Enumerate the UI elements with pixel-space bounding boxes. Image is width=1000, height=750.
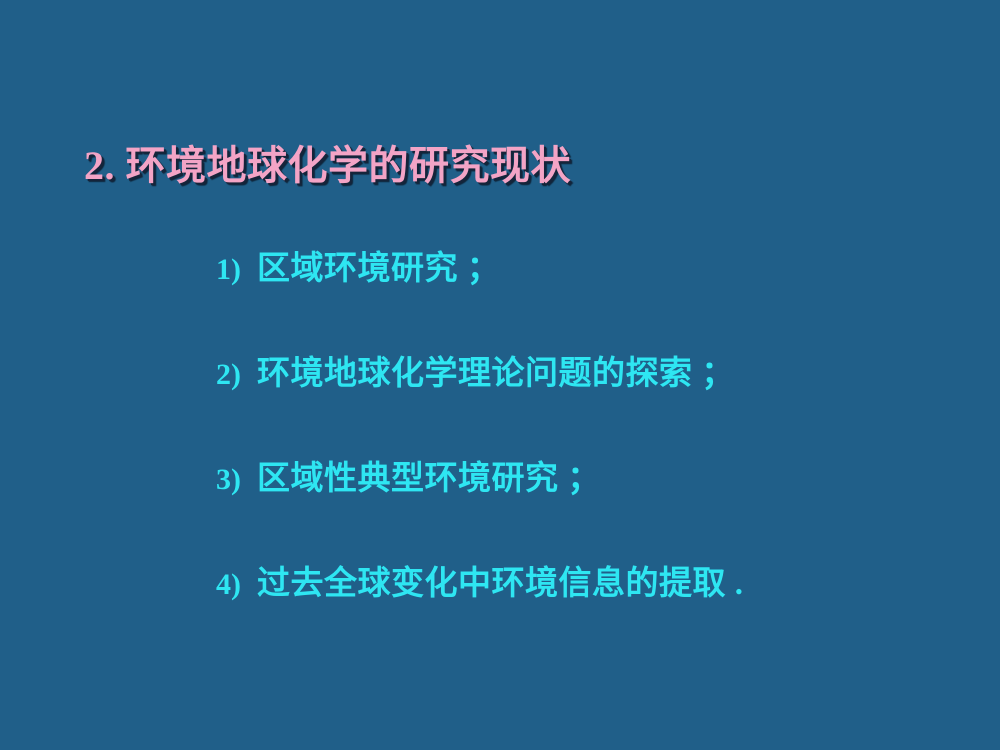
presentation-slide: 2. 环境地球化学的研究现状 1) 区域环境研究 ； 2) 环境地球化学理论问题… <box>0 0 1000 750</box>
list-item-label: 过去全球变化中环境信息的提取 . <box>257 563 744 605</box>
list-item-label: 区域性典型环境研究 ； <box>257 458 601 500</box>
bullet-list: 1) 区域环境研究 ； 2) 环境地球化学理论问题的探索 ； 3) 区域性典型环… <box>216 248 976 668</box>
list-item-marker: 1) <box>216 250 241 290</box>
list-item-marker: 3) <box>216 460 241 500</box>
list-item-marker: 4) <box>216 565 241 605</box>
page-title: 2. 环境地球化学的研究现状 <box>84 140 571 192</box>
list-item-marker: 2) <box>216 355 241 395</box>
list-item-label: 环境地球化学理论问题的探索 ； <box>257 353 735 395</box>
list-item: 2) 环境地球化学理论问题的探索 ； <box>216 353 976 458</box>
list-item: 4) 过去全球变化中环境信息的提取 . <box>216 563 976 668</box>
list-item: 1) 区域环境研究 ； <box>216 248 976 353</box>
list-item: 3) 区域性典型环境研究 ； <box>216 458 976 563</box>
list-item-label: 区域环境研究 ； <box>257 248 500 290</box>
